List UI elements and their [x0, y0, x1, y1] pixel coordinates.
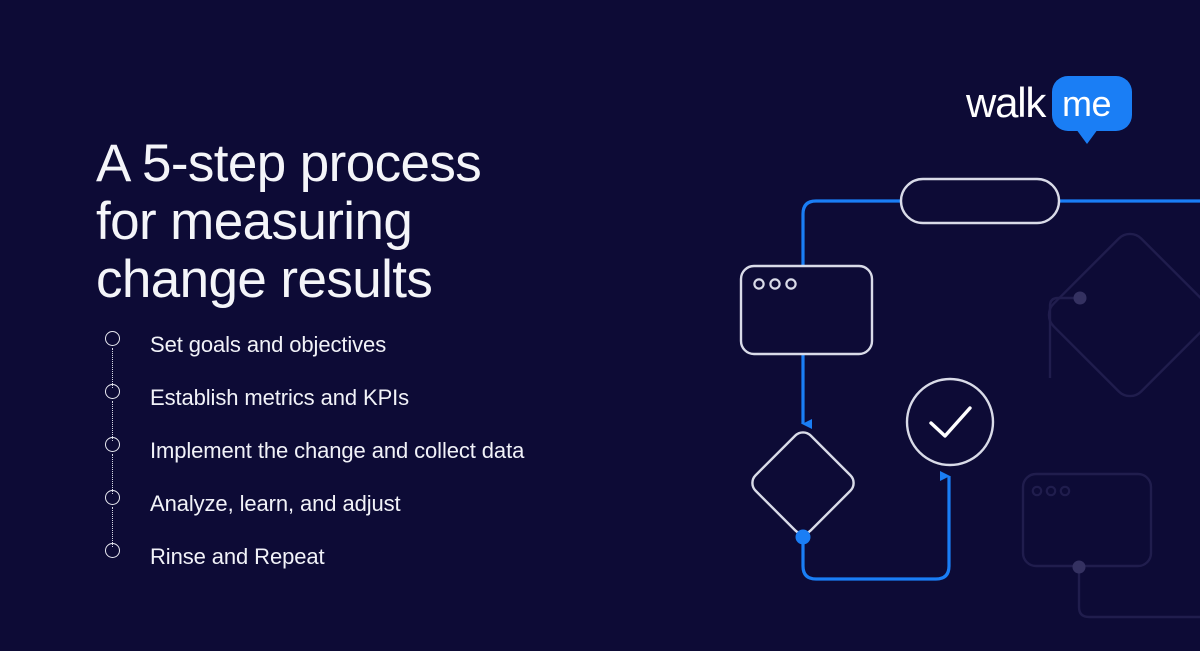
- step-bullet-icon: [105, 437, 120, 452]
- walkme-logo[interactable]: walk me: [966, 72, 1136, 142]
- step-label: Analyze, learn, and adjust: [132, 491, 401, 517]
- step-label: Implement the change and collect data: [132, 438, 524, 464]
- faint-diamond-shape: [1042, 227, 1200, 402]
- success-check-node: [907, 379, 993, 465]
- step-marker: [96, 530, 132, 583]
- step-bullet-icon: [105, 543, 120, 558]
- connector-pill-to-browser: [803, 201, 1200, 275]
- step-marker: [96, 318, 132, 371]
- step-label: Rinse and Repeat: [132, 544, 325, 570]
- step-marker: [96, 424, 132, 477]
- connector-junction-dot: [796, 530, 811, 545]
- connector-diamond-to-check: [796, 476, 950, 579]
- step-bullet-icon: [105, 331, 120, 346]
- list-item: Set goals and objectives: [96, 318, 696, 371]
- page-title: A 5-step process for measuring change re…: [96, 135, 656, 309]
- faint-browser-window-shape: [1023, 474, 1200, 617]
- decision-diamond-node: [748, 428, 858, 538]
- logo-speech-bubble-tail: [1076, 129, 1098, 144]
- list-item: Rinse and Repeat: [96, 530, 696, 583]
- browser-dot-icon: [786, 279, 795, 288]
- slide-canvas: walk me A 5-step process for measuring c…: [0, 0, 1200, 651]
- logo-word-me: me: [1062, 86, 1111, 122]
- step-bullet-icon: [105, 384, 120, 399]
- list-item: Establish metrics and KPIs: [96, 371, 696, 424]
- step-marker: [96, 477, 132, 530]
- pill-node: [901, 179, 1059, 223]
- logo-word-walk: walk: [966, 82, 1045, 124]
- browser-dot-icon: [754, 279, 763, 288]
- list-item: Analyze, learn, and adjust: [96, 477, 696, 530]
- list-item: Implement the change and collect data: [96, 424, 696, 477]
- step-label: Establish metrics and KPIs: [132, 385, 409, 411]
- step-list: Set goals and objectives Establish metri…: [96, 318, 696, 583]
- step-bullet-icon: [105, 490, 120, 505]
- browser-window-node: [741, 266, 872, 354]
- browser-dot-icon: [770, 279, 779, 288]
- check-icon: [931, 408, 970, 436]
- step-marker: [96, 371, 132, 424]
- step-label: Set goals and objectives: [132, 332, 386, 358]
